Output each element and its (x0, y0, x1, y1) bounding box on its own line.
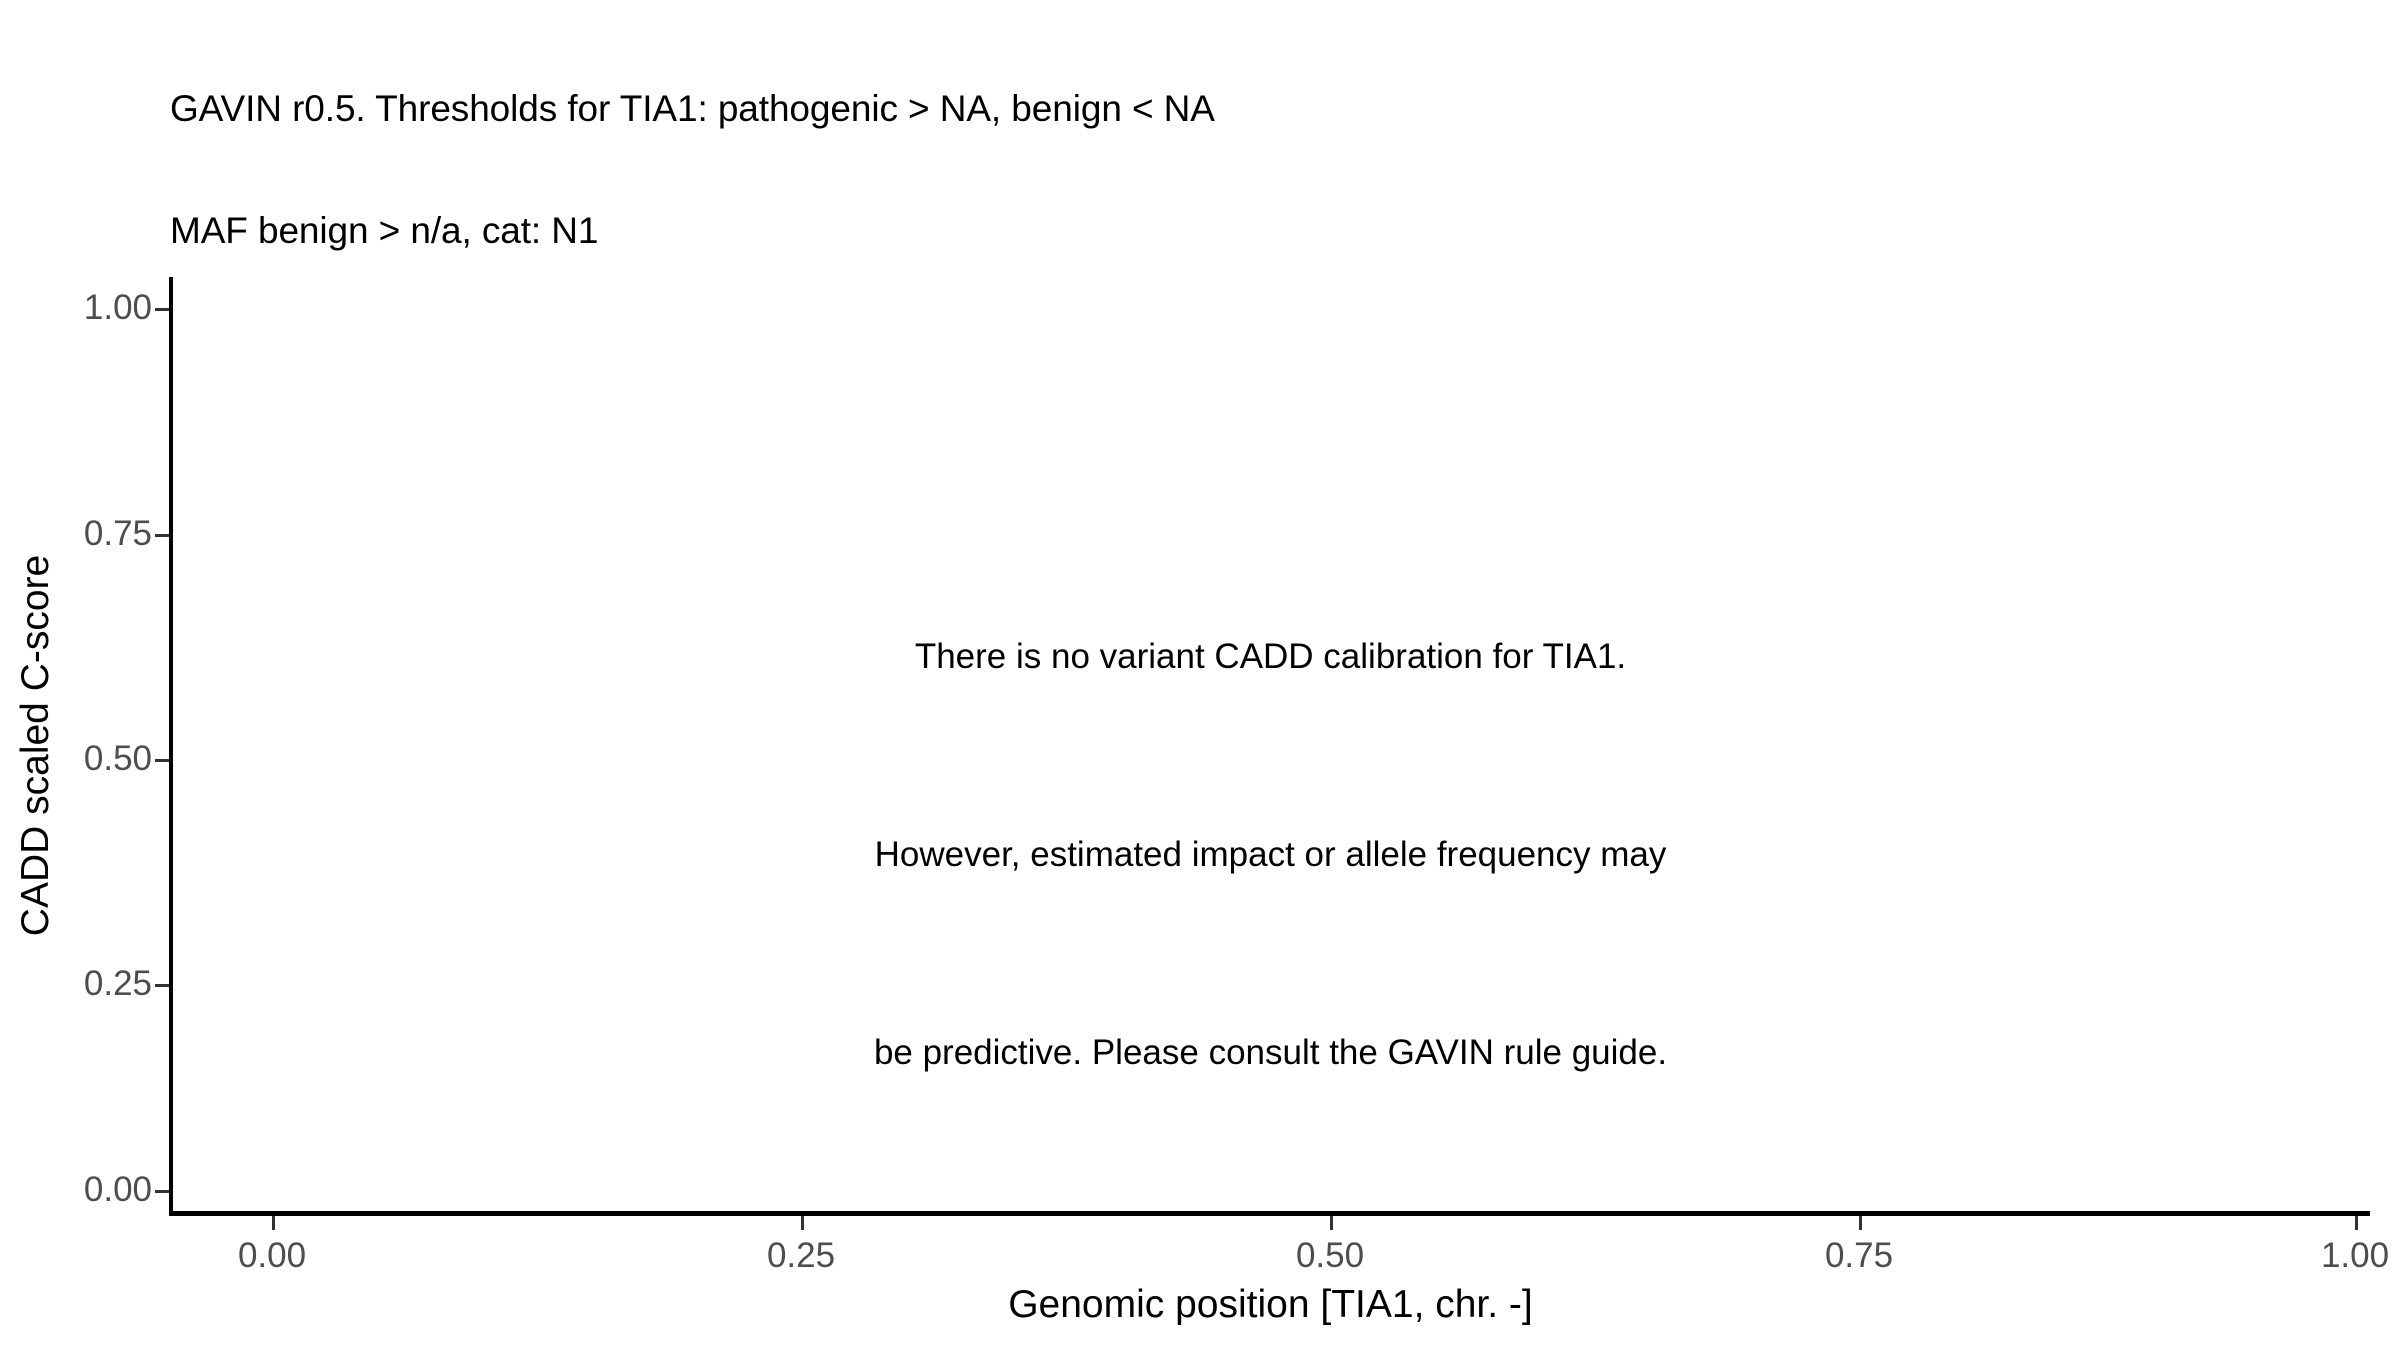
x-tick-mark-2 (801, 1216, 804, 1230)
x-tick-label-4: 0.75 (1825, 1236, 1893, 1276)
x-tick-label-1: 0.00 (238, 1236, 306, 1276)
x-tick-mark-3 (1330, 1216, 1333, 1230)
plot-title-line-1: GAVIN r0.5. Thresholds for TIA1: pathoge… (170, 89, 2370, 130)
x-tick-label-2: 0.25 (767, 1236, 835, 1276)
x-tick-mark-1 (272, 1216, 275, 1230)
plot-title-line-2: MAF benign > n/a, cat: N1 (170, 211, 2370, 252)
y-tick-label-2: 0.75 (84, 514, 152, 554)
x-axis-title: Genomic position [TIA1, chr. -] (171, 1283, 2370, 1327)
y-tick-mark-1 (155, 308, 169, 311)
y-axis-line (169, 277, 173, 1215)
y-tick-mark-3 (155, 759, 169, 762)
x-tick-label-3: 0.50 (1296, 1236, 1364, 1276)
y-tick-label-5: 0.00 (84, 1170, 152, 1210)
x-tick-label-5: 1.00 (2321, 1236, 2389, 1276)
no-calibration-message: There is no variant CADD calibration for… (874, 492, 1667, 1218)
y-tick-mark-2 (155, 534, 169, 537)
y-tick-label-4: 0.25 (84, 964, 152, 1004)
no-calibration-message-line-2: However, estimated impact or allele freq… (874, 822, 1667, 888)
y-tick-label-1: 1.00 (84, 288, 152, 328)
y-tick-mark-4 (155, 984, 169, 987)
no-calibration-message-line-1: There is no variant CADD calibration for… (874, 624, 1667, 690)
y-tick-label-3: 0.50 (84, 739, 152, 779)
x-tick-mark-5 (2355, 1216, 2358, 1230)
x-axis-line (169, 1211, 2370, 1216)
x-tick-mark-4 (1859, 1216, 1862, 1230)
plot-panel: There is no variant CADD calibration for… (171, 278, 2370, 1213)
y-tick-mark-5 (155, 1190, 169, 1193)
no-calibration-message-line-3: be predictive. Please consult the GAVIN … (874, 1020, 1667, 1086)
plot-canvas: GAVIN r0.5. Thresholds for TIA1: pathoge… (0, 0, 2400, 1350)
y-axis-title: CADD scaled C-score (14, 278, 64, 1213)
